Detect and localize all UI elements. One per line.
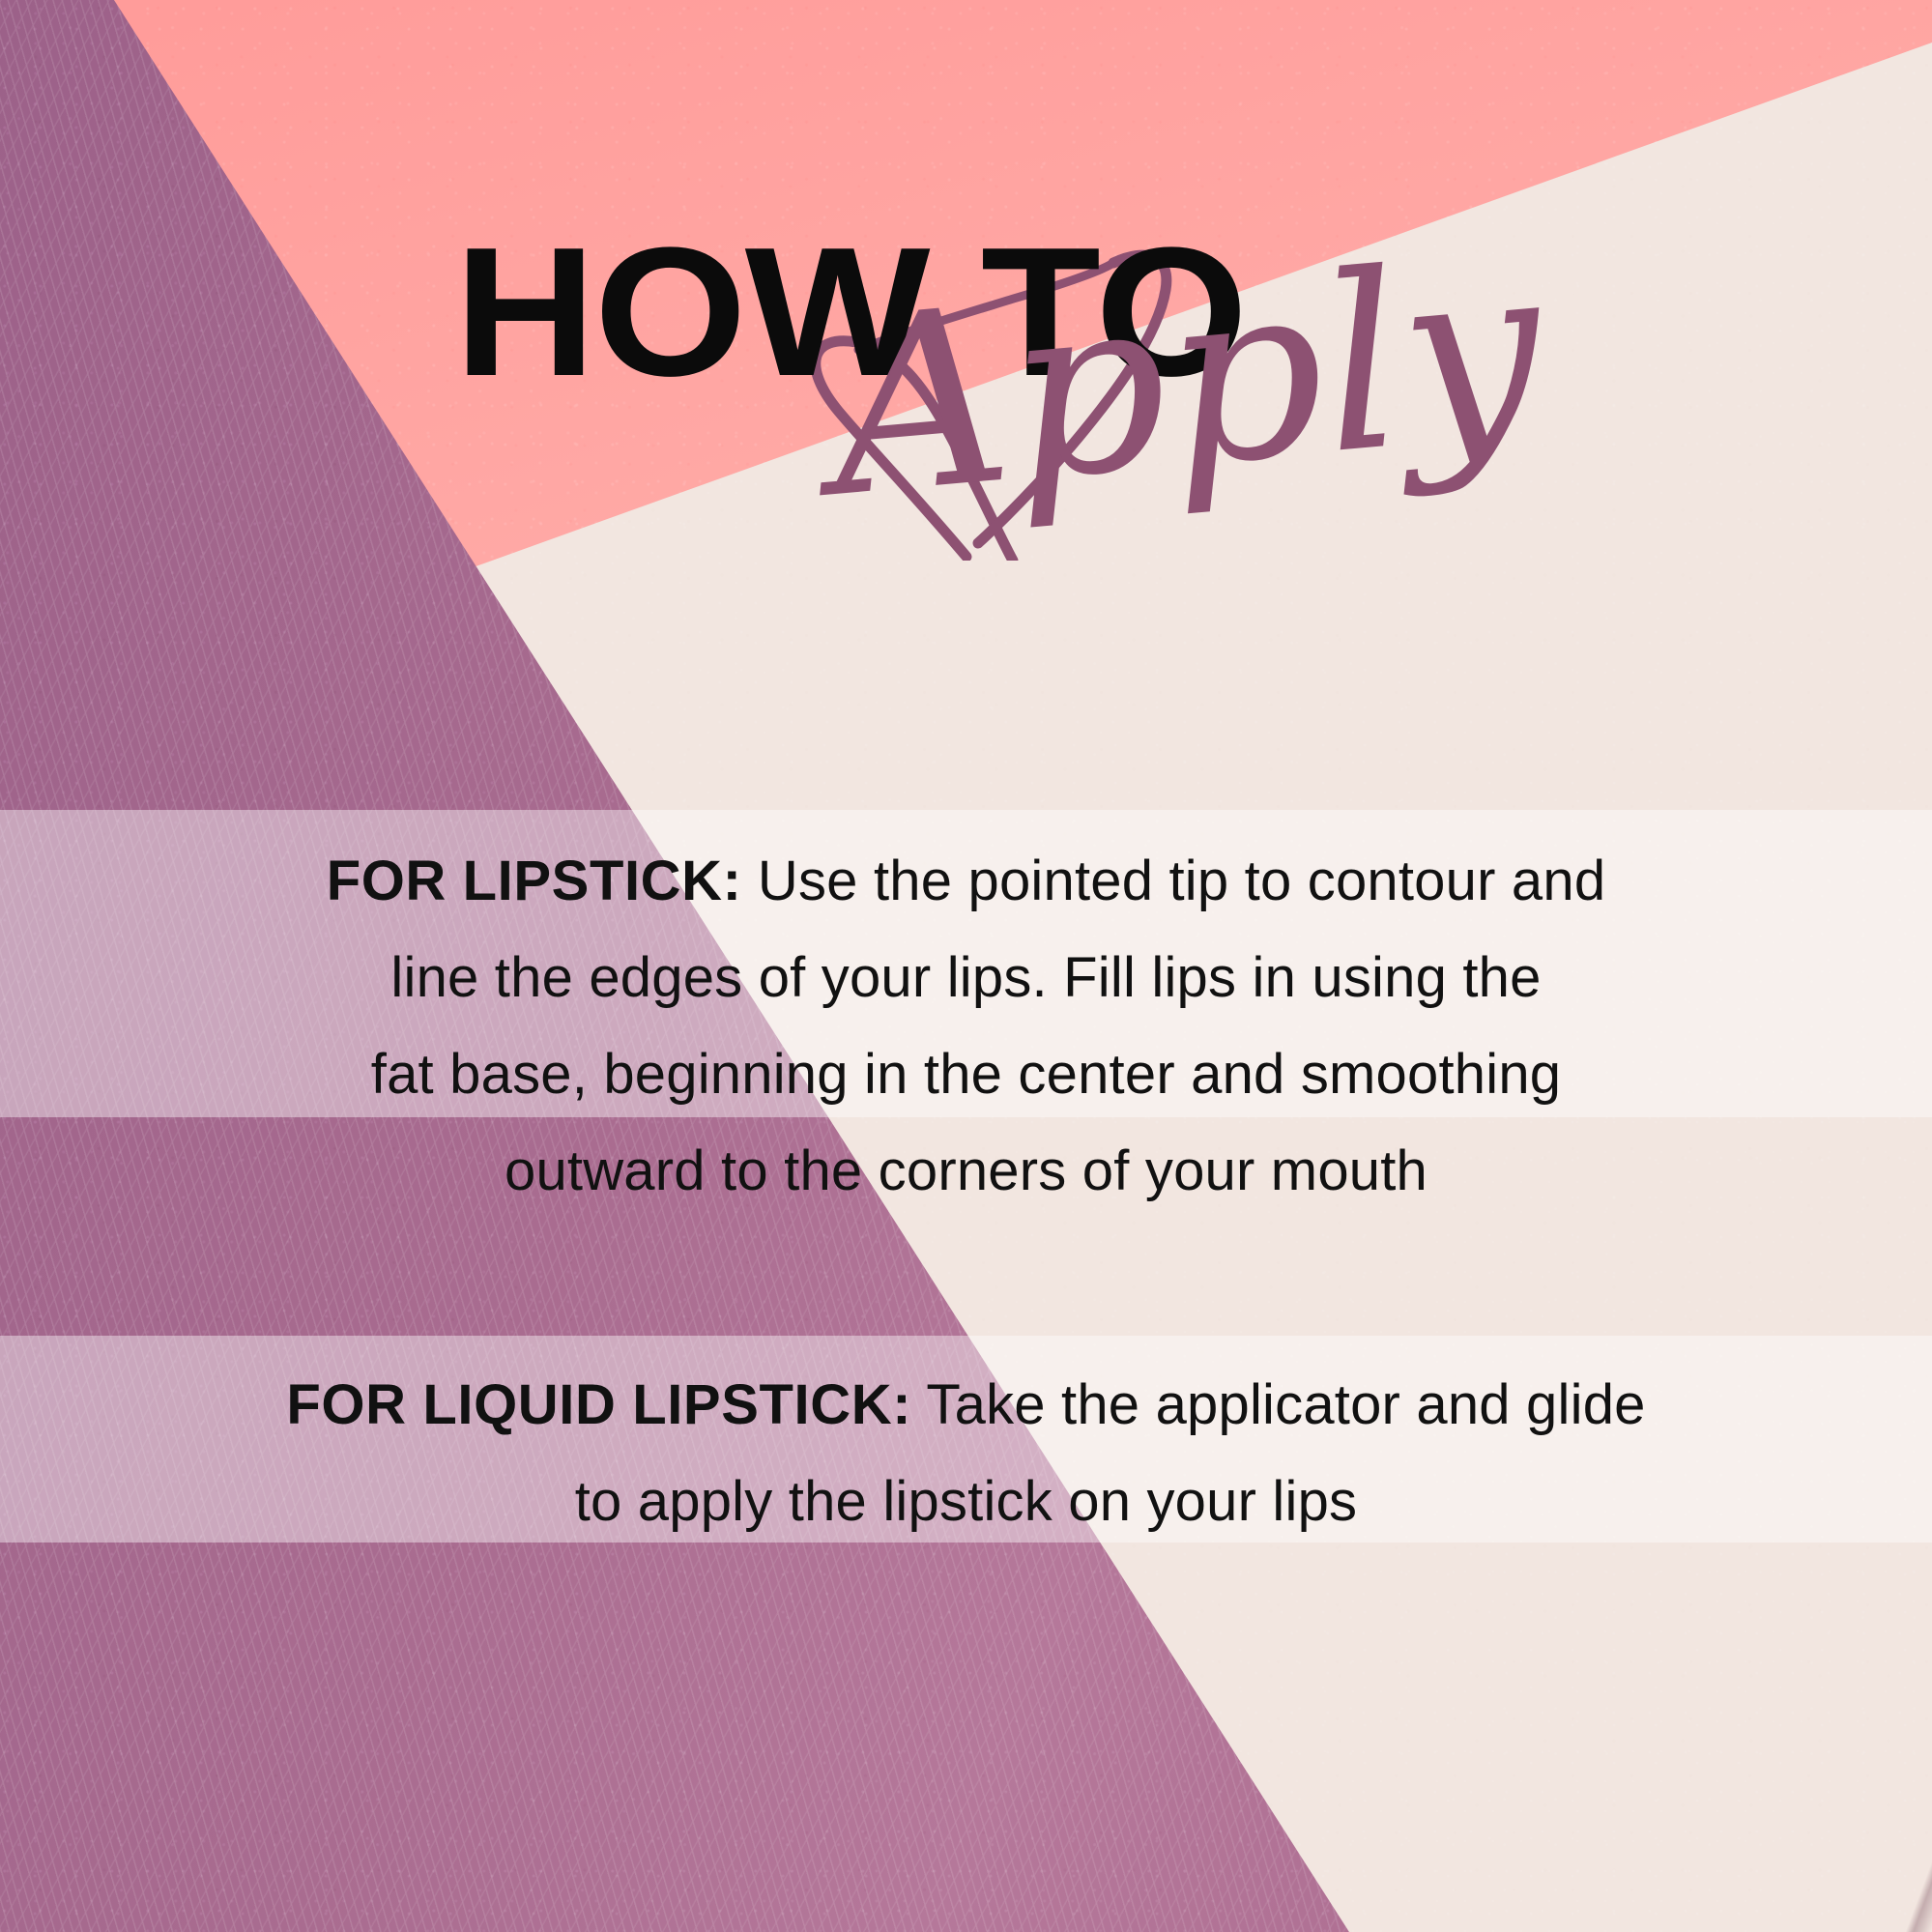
instruction-line: line the edges of your lips. Fill lips i… [0, 930, 1932, 1026]
instruction-block-liquid-lipstick: FOR LIQUID LIPSTICK: Take the applicator… [0, 1357, 1932, 1550]
instruction-label-liquid-lipstick: FOR LIQUID LIPSTICK: [286, 1373, 911, 1436]
instruction-line: fat base, beginning in the center and sm… [0, 1026, 1932, 1123]
instruction-line-text: Use the pointed tip to contour and [742, 850, 1606, 912]
instruction-label-lipstick: FOR LIPSTICK: [327, 850, 742, 912]
instruction-line: outward to the corners of your mouth [0, 1123, 1932, 1220]
instruction-line: to apply the lipstick on your lips [0, 1454, 1932, 1550]
instruction-block-lipstick: FOR LIPSTICK: Use the pointed tip to con… [0, 833, 1932, 1220]
instruction-line: FOR LIPSTICK: Use the pointed tip to con… [0, 833, 1932, 930]
heading-block: HOW TO Apply [0, 0, 1932, 677]
page-title-script: Apply [821, 228, 1550, 531]
poster-canvas: HOW TO Apply FOR LIPSTICK: Use the point… [0, 0, 1932, 1932]
instruction-line-text: Take the applicator and glide [911, 1373, 1645, 1436]
instruction-line: FOR LIQUID LIPSTICK: Take the applicator… [0, 1357, 1932, 1454]
